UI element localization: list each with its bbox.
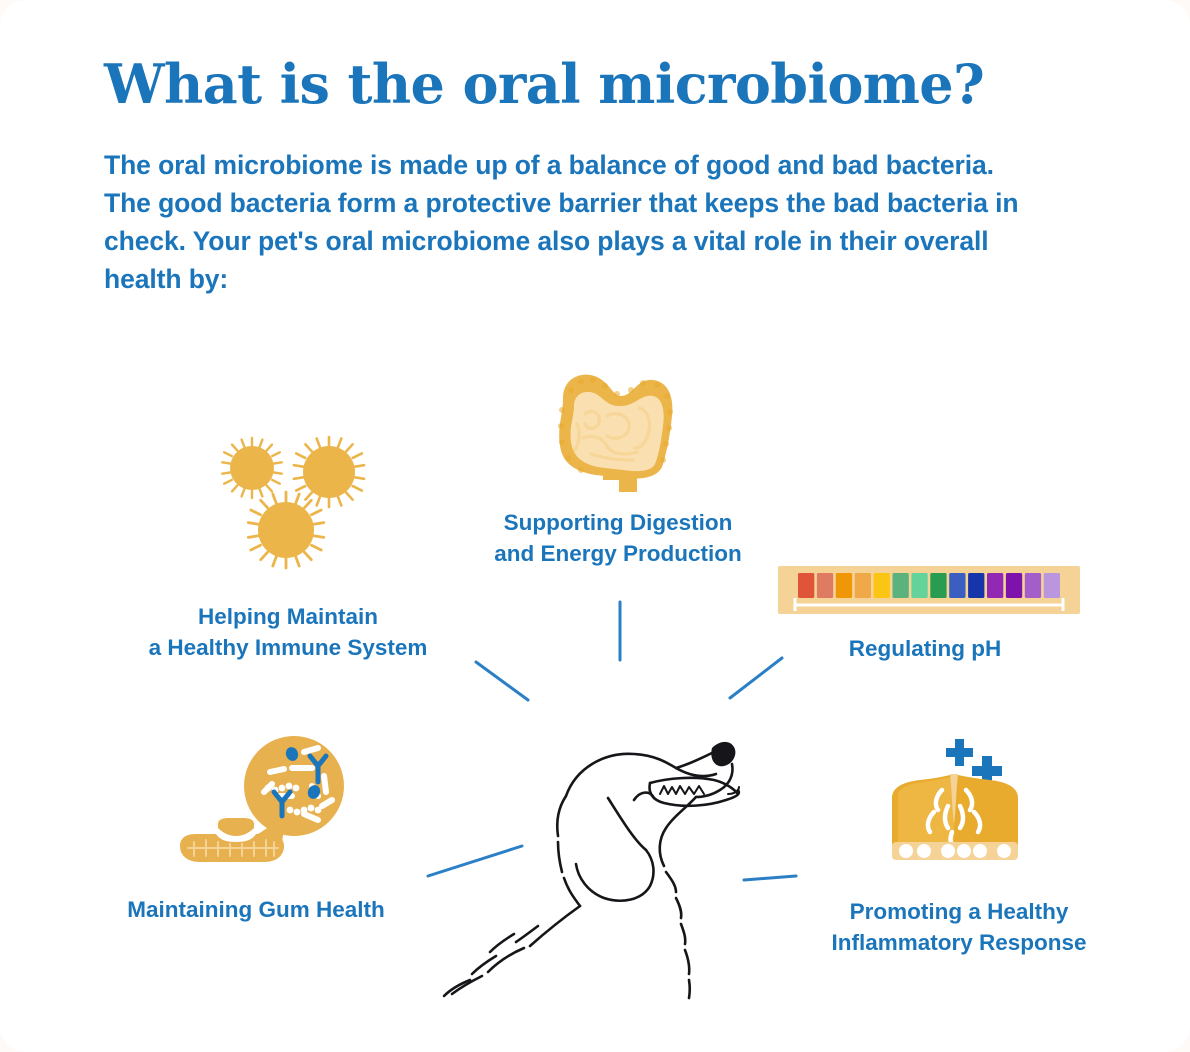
rectum-stub bbox=[603, 472, 637, 492]
ph-swatch-14 bbox=[1044, 573, 1060, 598]
ph-swatch-6 bbox=[893, 573, 909, 598]
ph-swatch-3 bbox=[836, 573, 852, 598]
ph-swatch-10 bbox=[968, 573, 984, 598]
ph-swatch-9 bbox=[949, 573, 965, 598]
dog-cheek-line bbox=[608, 798, 646, 850]
dog-head-left-contour bbox=[557, 796, 566, 836]
benefit-label-inflammatory: Promoting a Healthy Inflammatory Respons… bbox=[800, 896, 1118, 958]
ph-swatch-11 bbox=[987, 573, 1003, 598]
benefit-label-ph: Regulating pH bbox=[820, 633, 1030, 664]
ph-swatch-2 bbox=[817, 573, 833, 598]
microbe-3 bbox=[248, 492, 323, 568]
dog-ear bbox=[576, 850, 653, 901]
page-title: What is the oral microbiome? bbox=[104, 52, 984, 116]
ph-strip-icon bbox=[778, 566, 1080, 614]
dog-throat bbox=[660, 797, 696, 866]
benefit-label-gum: Maintaining Gum Health bbox=[100, 894, 412, 925]
ph-swatch-4 bbox=[855, 573, 871, 598]
ph-swatch-8 bbox=[930, 573, 946, 598]
ph-swatch-7 bbox=[911, 573, 927, 598]
ph-swatch-5 bbox=[874, 573, 890, 598]
dog-nose bbox=[711, 742, 735, 766]
benefit-label-digestion: Supporting Digestion and Energy Producti… bbox=[468, 507, 768, 569]
inflamed-gum-icon bbox=[884, 732, 1034, 872]
ph-swatch-12 bbox=[1006, 573, 1022, 598]
intro-paragraph: The oral microbiome is made up of a bala… bbox=[104, 146, 1034, 298]
dog-head-illustration bbox=[408, 690, 768, 1002]
microbe-1 bbox=[222, 438, 282, 498]
ph-swatch-13 bbox=[1025, 573, 1041, 598]
benefit-label-immune: Helping Maintain a Healthy Immune System bbox=[108, 601, 468, 663]
dog-ruff-2 bbox=[472, 956, 496, 974]
infographic-card: What is the oral microbiome? The oral mi… bbox=[0, 0, 1190, 1052]
dog-teeth bbox=[660, 786, 704, 794]
microbes-icon bbox=[214, 432, 384, 572]
intestine-icon bbox=[541, 364, 691, 494]
dog-ruff-4 bbox=[516, 926, 538, 942]
microbe-2 bbox=[294, 437, 364, 507]
ph-swatch-1 bbox=[798, 573, 814, 598]
dog-ruff-1 bbox=[490, 934, 514, 952]
dog-ruff-3 bbox=[444, 980, 470, 996]
gum-bacteria-icon bbox=[172, 734, 352, 874]
